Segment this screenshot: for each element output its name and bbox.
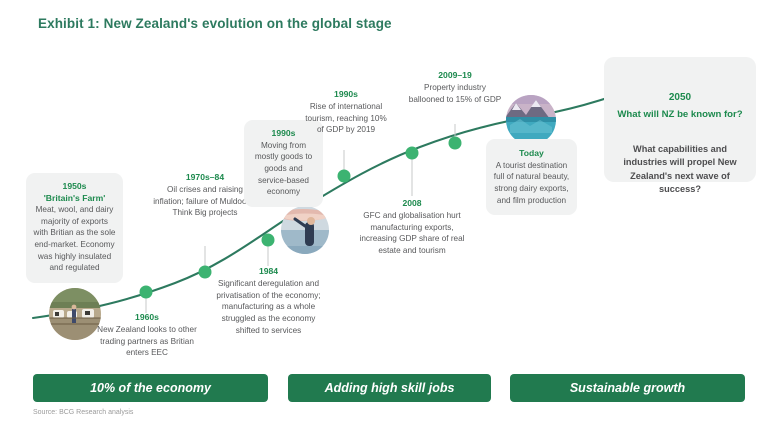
milestone-heading: 1960s [92, 311, 202, 323]
node-1990s-tour[interactable] [338, 170, 351, 183]
milestone-card-today[interactable]: Today A tourist destination full of natu… [486, 139, 577, 215]
milestone-heading: 2009–19 [407, 69, 503, 81]
milestone-body: Property industry ballooned to 15% of GD… [409, 83, 501, 104]
footer-bar-jobs[interactable]: Adding high skill jobs [288, 374, 491, 402]
footer-bar-growth[interactable]: Sustainable growth [510, 374, 745, 402]
source-note: Source: BCG Research analysis [33, 409, 133, 416]
node-2009-19[interactable] [449, 137, 462, 150]
milestone-heading: 1970s–84 [152, 171, 258, 183]
footer-bar-economy[interactable]: 10% of the economy [33, 374, 268, 402]
milestone-label-2009-19[interactable]: 2009–19 Property industry ballooned to 1… [407, 69, 503, 105]
milestone-body: GFC and globalisation hurt manufacturing… [360, 211, 465, 255]
milestone-subheading: 'Britain's Farm' [33, 193, 116, 205]
milestone-label-1990s-tourism[interactable]: 1990s Rise of international tourism, rea… [304, 88, 388, 136]
milestone-body: Significant deregulation and privatisati… [216, 279, 320, 335]
milestone-label-2008[interactable]: 2008 GFC and globalisation hurt manufact… [355, 197, 469, 257]
future-prompt: What capabilities and industries will pr… [612, 143, 748, 196]
milestone-heading: 1990s [304, 88, 388, 100]
milestone-label-1970s[interactable]: 1970s–84 Oil crises and raising inflatio… [152, 171, 258, 219]
milestone-body: A tourist destination full of natural be… [493, 160, 570, 207]
milestone-label-1984[interactable]: 1984 Significant deregulation and privat… [209, 265, 328, 336]
mountain-photo [506, 95, 556, 145]
future-year: 2050 [604, 92, 756, 103]
future-question: What will NZ be known for? [604, 108, 756, 122]
milestone-body: Rise of international tourism, reaching … [305, 102, 386, 134]
milestone-heading: 1984 [209, 265, 328, 277]
node-1960s[interactable] [140, 286, 153, 299]
milestone-label-1960s[interactable]: 1960s New Zealand looks to other trading… [92, 311, 202, 359]
milestone-heading: Today [493, 148, 570, 160]
milestone-body: Moving from mostly goods to goods and se… [251, 140, 316, 198]
milestone-body: Meat, wool, and dairy majority of export… [33, 204, 116, 274]
milestone-body: New Zealand looks to other trading partn… [97, 325, 197, 357]
node-1984[interactable] [262, 234, 275, 247]
future-panel[interactable]: 2050 What will NZ be known for? What cap… [604, 57, 756, 182]
milestone-heading: 2008 [355, 197, 469, 209]
infographic-canvas: Exhibit 1: New Zealand's evolution on th… [0, 0, 768, 433]
node-2008[interactable] [406, 147, 419, 160]
milestone-body: Oil crises and raising inflation; failur… [153, 185, 257, 217]
milestone-heading: 1950s [33, 181, 116, 193]
milestone-card-1950s[interactable]: 1950s 'Britain's Farm' Meat, wool, and d… [26, 173, 123, 283]
surf-photo [281, 206, 329, 254]
